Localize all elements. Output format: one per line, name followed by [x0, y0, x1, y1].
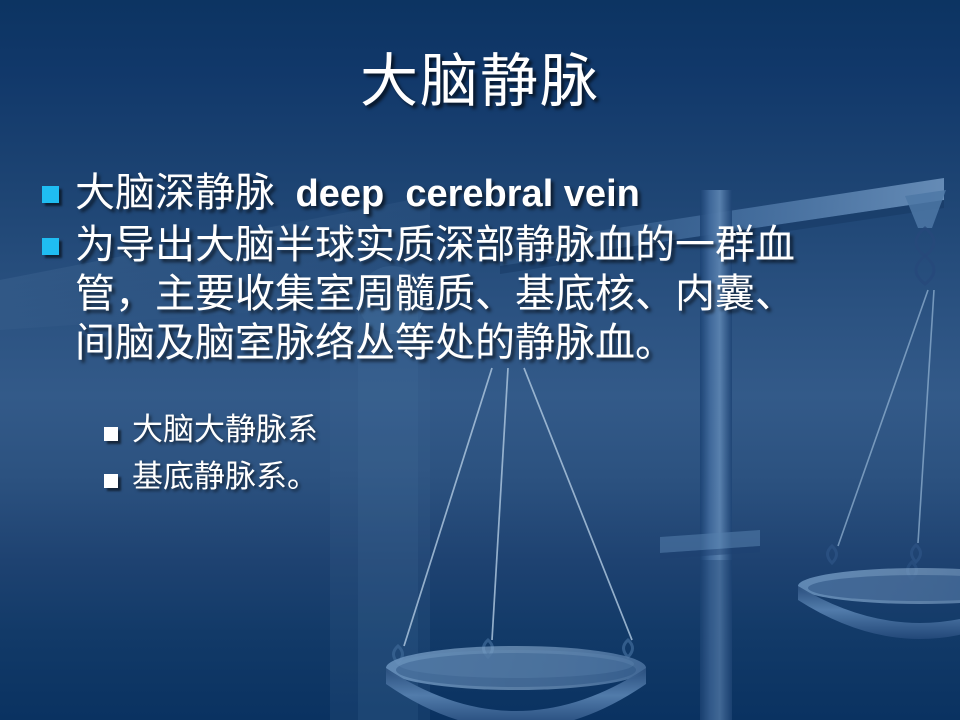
- bullet-marker-square-level1: [42, 238, 59, 255]
- bullet-text-2: 为导出大脑半球实质深部静脉血的一群血 管，主要收集室周髓质、基底核、内囊、 间脑…: [75, 220, 922, 368]
- sub-bullet-list: 大脑大静脉系 基底静脉系。: [104, 411, 922, 495]
- bullet-text-2-line-1: 为导出大脑半球实质深部静脉血的一群血: [75, 220, 922, 269]
- sub-bullet-label-1: 大脑大静脉系: [132, 411, 318, 448]
- sub-bullet-item-2[interactable]: 基底静脉系。: [104, 458, 922, 495]
- bullet-item-1[interactable]: 大脑深静脉 deep cerebral vein: [42, 168, 922, 218]
- bullet-marker-square-level2: [104, 427, 118, 441]
- bullet-item-2[interactable]: 为导出大脑半球实质深部静脉血的一群血 管，主要收集室周髓质、基底核、内囊、 间脑…: [42, 220, 922, 368]
- bullet-marker-square-level1: [42, 186, 59, 203]
- bullet-text-1-english: deep cerebral vein: [285, 173, 640, 215]
- slide-canvas: 大脑静脉 大脑深静脉 deep cerebral vein 为导出大脑半球实质深…: [0, 0, 960, 720]
- sub-bullet-item-1[interactable]: 大脑大静脉系: [104, 411, 922, 448]
- slide-body: 大脑深静脉 deep cerebral vein 为导出大脑半球实质深部静脉血的…: [42, 168, 922, 506]
- bullet-text-2-line-3: 间脑及脑室脉络丛等处的静脉血。: [75, 318, 922, 367]
- bullet-text-1-cjk: 大脑深静脉: [75, 170, 285, 215]
- bullet-text-1: 大脑深静脉 deep cerebral vein: [75, 168, 922, 218]
- bullet-text-2-line-2: 管，主要收集室周髓质、基底核、内囊、: [75, 269, 922, 318]
- sub-bullet-label-2: 基底静脉系。: [132, 458, 318, 495]
- slide-title: 大脑静脉: [0, 52, 960, 113]
- bullet-marker-square-level2: [104, 474, 118, 488]
